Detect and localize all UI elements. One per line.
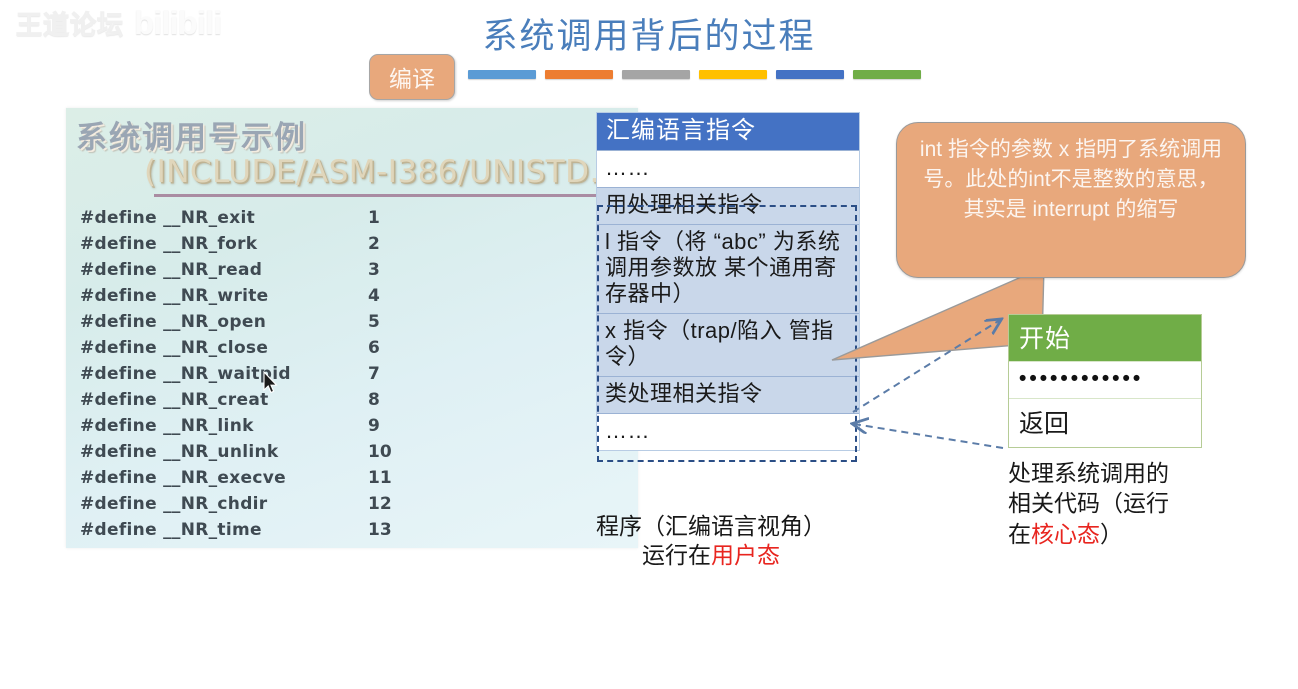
photo-subheading: (INCLUDE/ASM-I386/UNISTD.H) <box>144 154 636 190</box>
define-row: #define __NR_exit1 <box>80 208 620 234</box>
table-row: 用处理相关指令 <box>597 187 859 224</box>
define-row: #define __NR_write4 <box>80 286 620 312</box>
define-row: #define __NR_read3 <box>80 260 620 286</box>
assembly-instruction-table: 汇编语言指令 ……用处理相关指令l 指令（将 “abc” 为系统调用参数放 某个… <box>596 112 860 451</box>
mouse-cursor-icon <box>263 371 279 395</box>
define-name: #define __NR_open <box>80 312 266 332</box>
asm-caption-highlight: 用户态 <box>711 542 780 568</box>
kernel-box-header: 开始 <box>1009 315 1201 361</box>
asm-caption-line1: 程序（汇编语言视角） <box>596 513 826 539</box>
flow-arrows <box>848 300 1028 460</box>
define-name: #define __NR_link <box>80 416 254 436</box>
define-number: 2 <box>368 234 380 254</box>
kernel-caption-line2: 相关代码（运行 <box>1008 488 1258 518</box>
accent-bar-green <box>853 70 921 79</box>
define-list: #define __NR_exit1#define __NR_fork2#def… <box>80 208 620 546</box>
define-row: #define __NR_time13 <box>80 520 620 546</box>
define-number: 12 <box>368 494 392 514</box>
syscall-number-photo: 系统调用号示例 (INCLUDE/ASM-I386/UNISTD.H) #def… <box>66 108 638 548</box>
define-name: #define __NR_time <box>80 520 262 540</box>
define-number: 4 <box>368 286 380 306</box>
define-name: #define __NR_close <box>80 338 268 358</box>
page-title: 系统调用背后的过程 <box>0 8 1298 59</box>
table-header: 汇编语言指令 <box>597 113 859 150</box>
define-number: 7 <box>368 364 380 384</box>
asm-table-caption: 程序（汇编语言视角） 运行在用户态 <box>596 512 896 571</box>
define-number: 13 <box>368 520 392 540</box>
accent-bar-group <box>468 70 908 80</box>
define-row: #define __NR_creat8 <box>80 390 620 416</box>
define-number: 6 <box>368 338 380 358</box>
define-name: #define __NR_fork <box>80 234 257 254</box>
define-number: 3 <box>368 260 380 280</box>
accent-bar-orange <box>545 70 613 79</box>
define-name: #define __NR_exit <box>80 208 255 228</box>
kernel-handler-box: 开始 •••••••••••• 返回 <box>1008 314 1202 448</box>
slide-canvas: 王道论坛 bilibili 系统调用背后的过程 编译 系统调用号示例 (INCL… <box>0 0 1298 689</box>
define-number: 10 <box>368 442 392 462</box>
kernel-caption-line3: 在核心态） <box>1008 519 1258 549</box>
table-row: 类处理相关指令 <box>597 376 859 413</box>
accent-bar-darkblue <box>776 70 844 79</box>
define-row: #define __NR_open5 <box>80 312 620 338</box>
define-row: #define __NR_chdir12 <box>80 494 620 520</box>
table-row: …… <box>597 150 859 187</box>
asm-caption-prefix: 运行在 <box>642 542 711 568</box>
define-number: 9 <box>368 416 380 436</box>
define-number: 8 <box>368 390 380 410</box>
table-row: …… <box>597 413 859 450</box>
define-row: #define __NR_link9 <box>80 416 620 442</box>
define-name: #define __NR_creat <box>80 390 269 410</box>
define-row: #define __NR_fork2 <box>80 234 620 260</box>
define-name: #define __NR_execve <box>80 468 286 488</box>
define-number: 1 <box>368 208 380 228</box>
kernel-caption-line1: 处理系统调用的 <box>1008 458 1258 488</box>
accent-bar-yellow <box>699 70 767 79</box>
compile-chip-label: 编译 <box>389 60 435 94</box>
define-number: 5 <box>368 312 380 332</box>
accent-bar-blue <box>468 70 536 79</box>
compile-chip[interactable]: 编译 <box>369 54 455 100</box>
table-row: x 指令（trap/陷入 管指令） <box>597 313 859 376</box>
define-number: 11 <box>368 468 392 488</box>
accent-bar-gray <box>622 70 690 79</box>
callout-text: int 指令的参数 x 指明了系统调用号。此处的int不是整数的意思，其实是 i… <box>920 138 1222 221</box>
kernel-caption-prefix: 在 <box>1008 521 1031 547</box>
define-row: #define __NR_execve11 <box>80 468 620 494</box>
int-instruction-callout: int 指令的参数 x 指明了系统调用号。此处的int不是整数的意思，其实是 i… <box>896 122 1246 278</box>
define-name: #define __NR_chdir <box>80 494 268 514</box>
photo-heading: 系统调用号示例 <box>76 112 307 157</box>
define-row: #define __NR_waitpid7 <box>80 364 620 390</box>
table-row: l 指令（将 “abc” 为系统调用参数放 某个通用寄存器中） <box>597 224 859 313</box>
define-row: #define __NR_unlink10 <box>80 442 620 468</box>
photo-underline <box>154 194 632 197</box>
define-name: #define __NR_write <box>80 286 269 306</box>
kernel-box-caption: 处理系统调用的 相关代码（运行 在核心态） <box>1008 458 1258 549</box>
define-name: #define __NR_read <box>80 260 262 280</box>
kernel-box-dots: •••••••••••• <box>1009 361 1201 398</box>
kernel-box-footer: 返回 <box>1009 398 1201 447</box>
define-row: #define __NR_close6 <box>80 338 620 364</box>
define-name: #define __NR_unlink <box>80 442 279 462</box>
kernel-caption-highlight: 核心态 <box>1031 521 1100 547</box>
kernel-caption-suffix: ） <box>1100 521 1123 547</box>
define-name: #define __NR_waitpid <box>80 364 291 384</box>
